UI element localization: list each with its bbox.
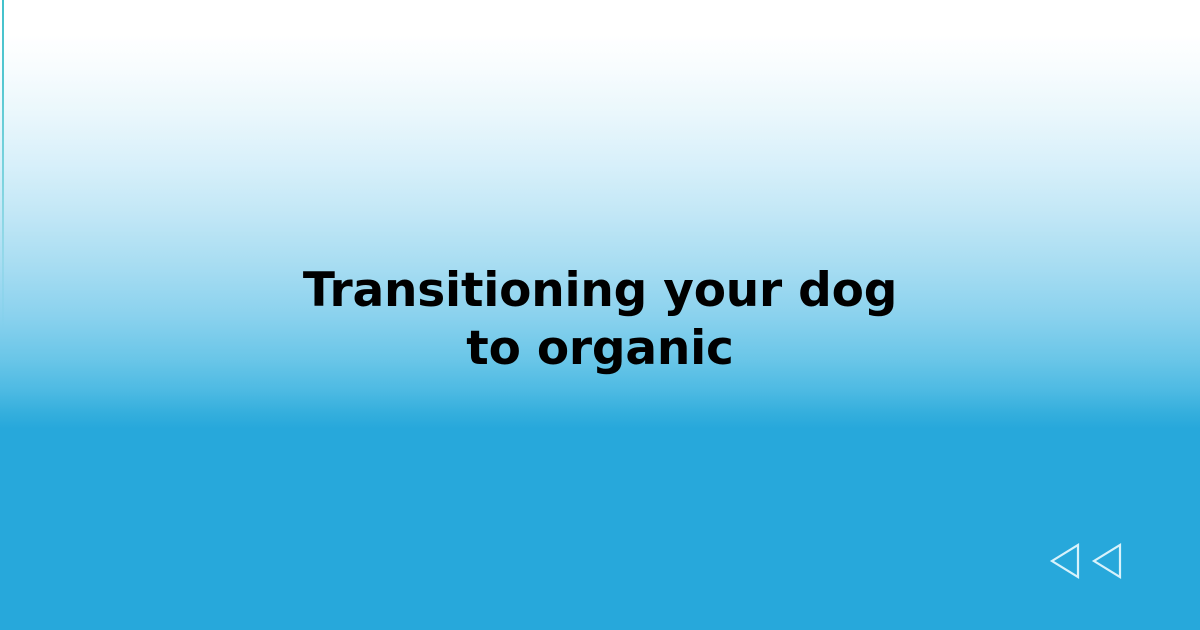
slide-canvas: Transitioning your dog to organic — [0, 0, 1200, 630]
rewind-triangle-left-first-icon[interactable] — [1048, 542, 1084, 580]
title-block: Transitioning your dog to organic — [0, 262, 1200, 378]
page-title: Transitioning your dog to organic — [120, 262, 1080, 378]
navigation-controls[interactable] — [1048, 542, 1126, 580]
rewind-triangle-left-second-icon[interactable] — [1090, 542, 1126, 580]
